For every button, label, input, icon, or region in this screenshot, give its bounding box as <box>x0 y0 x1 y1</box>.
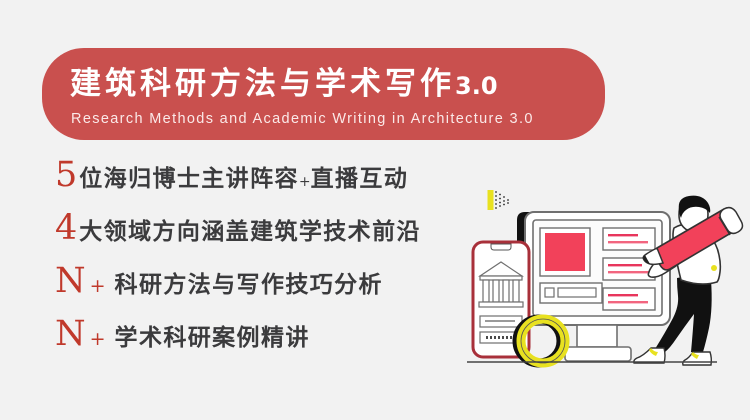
bullet-marker: 5 <box>55 158 77 193</box>
monitor-search-bar-checkbox[interactable] <box>545 288 554 297</box>
bullet-label: 位海归博士主讲阵容+直播互动 <box>79 165 408 196</box>
bullet-marker: N <box>55 264 86 299</box>
monitor-image-block <box>545 233 585 271</box>
bullet-label: 科研方法与写作技巧分析 <box>115 271 383 299</box>
phone-field-1[interactable] <box>480 316 522 327</box>
monitor-search-bar-field[interactable] <box>558 288 596 297</box>
bullet-label-after: 直播互动 <box>311 165 409 192</box>
monitor-neck <box>577 325 617 347</box>
bullet-label-before: 位海归博士主讲阵容 <box>79 165 299 192</box>
course-title-chinese-main: 建筑科研方法与学术写作 <box>70 66 455 102</box>
monitor-card-3 <box>603 288 655 310</box>
monitor-card-1 <box>603 228 655 250</box>
list-item: 4 大领域方向涵盖建筑学技术前沿 <box>55 211 475 264</box>
course-title-chinese: 建筑科研方法与学术写作3.0 <box>70 64 579 106</box>
list-item: N + 科研方法与写作技巧分析 <box>55 264 475 317</box>
bullet-label: 学术科研案例精讲 <box>115 324 310 352</box>
smartphone-notch <box>491 244 511 250</box>
bullet-mid-plus: + <box>299 174 311 190</box>
list-item: N + 学术科研案例精讲 <box>55 317 475 370</box>
bullet-plus-sign: + <box>90 277 106 296</box>
list-item: 5 位海归博士主讲阵容+直播互动 <box>55 158 475 211</box>
hero-illustration <box>455 180 750 380</box>
monitor-base <box>565 347 631 361</box>
bullet-label: 大领域方向涵盖建筑学技术前沿 <box>79 218 421 246</box>
title-banner: 建筑科研方法与学术写作3.0 Research Methods and Acad… <box>42 48 605 140</box>
course-title-version: 3.0 <box>455 72 498 100</box>
bullet-marker: N <box>55 317 86 352</box>
person-waist-accent <box>711 265 717 271</box>
feature-list: 5 位海归博士主讲阵容+直播互动 4 大领域方向涵盖建筑学技术前沿 N + 科研… <box>55 158 475 370</box>
bullet-marker: 4 <box>55 211 77 246</box>
poster-canvas: 建筑科研方法与学术写作3.0 Research Methods and Acad… <box>0 0 750 420</box>
bullet-plus-sign: + <box>90 330 106 349</box>
dot-sparkle-icon <box>488 190 509 210</box>
course-title-english: Research Methods and Academic Writing in… <box>71 108 579 130</box>
